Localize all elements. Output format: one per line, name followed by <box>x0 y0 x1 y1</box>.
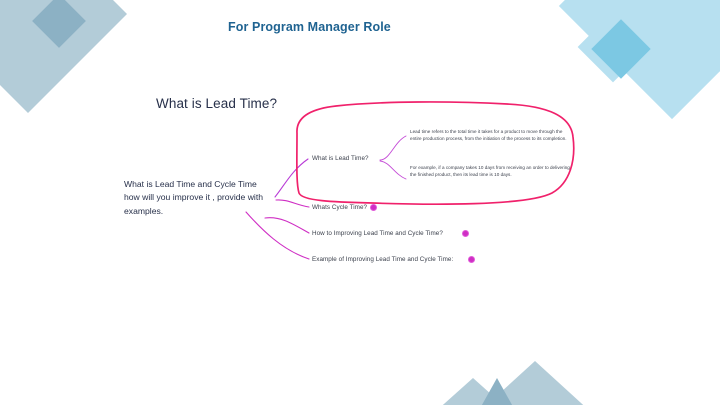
hand-drawn-circle-annotation <box>297 102 574 204</box>
branch-line-improving <box>265 218 309 233</box>
slide-canvas: For Program Manager Role What is Lead Ti… <box>0 0 720 405</box>
collapsed-node-badge-icon-improving[interactable] <box>462 230 469 237</box>
collapsed-node-badge-icon-cycle-time[interactable] <box>370 204 377 211</box>
branch-line-cycle-time <box>276 200 309 207</box>
mindmap-node-example[interactable]: Example of Improving Lead Time and Cycle… <box>312 256 453 263</box>
detail-text-definition: Lead time refers to the total time it ta… <box>410 128 570 143</box>
collapsed-node-badge-icon-example[interactable] <box>468 256 475 263</box>
detail-branch-example <box>380 161 406 179</box>
mindmap-connectors <box>0 0 720 405</box>
branch-lines <box>246 159 309 259</box>
branch-line-example <box>246 212 309 259</box>
detail-branch-definition <box>380 136 406 160</box>
detail-text-example: For example, if a company takes 10 days … <box>410 164 570 179</box>
mindmap-node-cycle-time[interactable]: Whats Cycle Time? <box>312 204 367 211</box>
detail-branch-lines <box>380 136 406 179</box>
mindmap-node-lead-time[interactable]: What is Lead Time? <box>312 155 369 162</box>
branch-line-lead-time <box>275 159 308 197</box>
mindmap-node-improving[interactable]: How to Improving Lead Time and Cycle Tim… <box>312 230 443 237</box>
